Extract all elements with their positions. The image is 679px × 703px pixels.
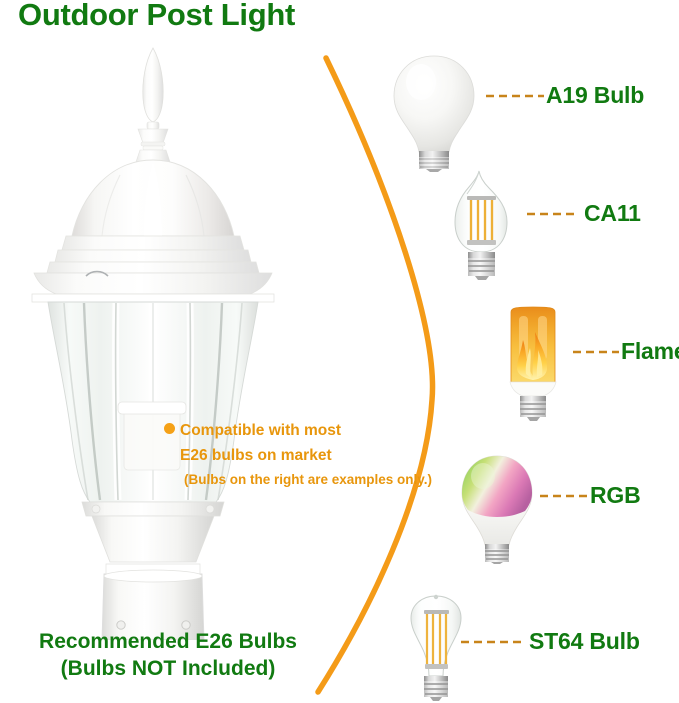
bulb-label-st64: ST64 Bulb xyxy=(529,628,640,655)
bulb-item-a19: A19 Bulb xyxy=(388,52,679,172)
flame-bulb-icon xyxy=(497,304,569,424)
leader-line-st64 xyxy=(461,640,523,643)
bulb-item-rgb: RGB xyxy=(458,452,679,564)
bulb-label-flame: Flame xyxy=(621,338,679,365)
bottom-caption-line-2: (Bulbs NOT Included) xyxy=(18,655,318,682)
bulb-item-flame: Flame xyxy=(497,304,679,424)
st64-bulb-icon xyxy=(397,592,475,703)
product-infographic: Outdoor Post Light xyxy=(0,0,679,703)
bulb-label-rgb: RGB xyxy=(590,482,641,509)
leader-line-flame xyxy=(573,350,619,353)
compat-line-1: Compatible with most xyxy=(164,418,434,443)
compat-line-3: (Bulbs on the right are examples only.) xyxy=(164,468,434,492)
compat-line-1-text: Compatible with most xyxy=(180,422,341,439)
bottom-caption: Recommended E26 Bulbs (Bulbs NOT Include… xyxy=(18,628,318,682)
leader-line-a19 xyxy=(486,94,544,97)
outdoor-post-light-image xyxy=(20,40,290,640)
bulb-item-ca11: CA11 xyxy=(441,168,679,288)
bottom-caption-line-1: Recommended E26 Bulbs xyxy=(18,628,318,655)
bullet-dot-icon xyxy=(164,423,175,434)
compat-line-2: E26 bulbs on market xyxy=(164,443,434,468)
leader-line-ca11 xyxy=(527,212,579,215)
bulb-item-st64: ST64 Bulb xyxy=(397,592,679,703)
leader-line-rgb xyxy=(540,494,588,497)
page-title: Outdoor Post Light xyxy=(18,0,295,33)
a19-bulb-icon xyxy=(388,52,480,172)
compatibility-note: Compatible with most E26 bulbs on market… xyxy=(164,418,434,492)
rgb-bulb-icon xyxy=(458,452,536,564)
ca11-bulb-icon xyxy=(441,168,521,288)
bulb-label-ca11: CA11 xyxy=(584,200,641,227)
bulb-label-a19: A19 Bulb xyxy=(546,82,644,109)
